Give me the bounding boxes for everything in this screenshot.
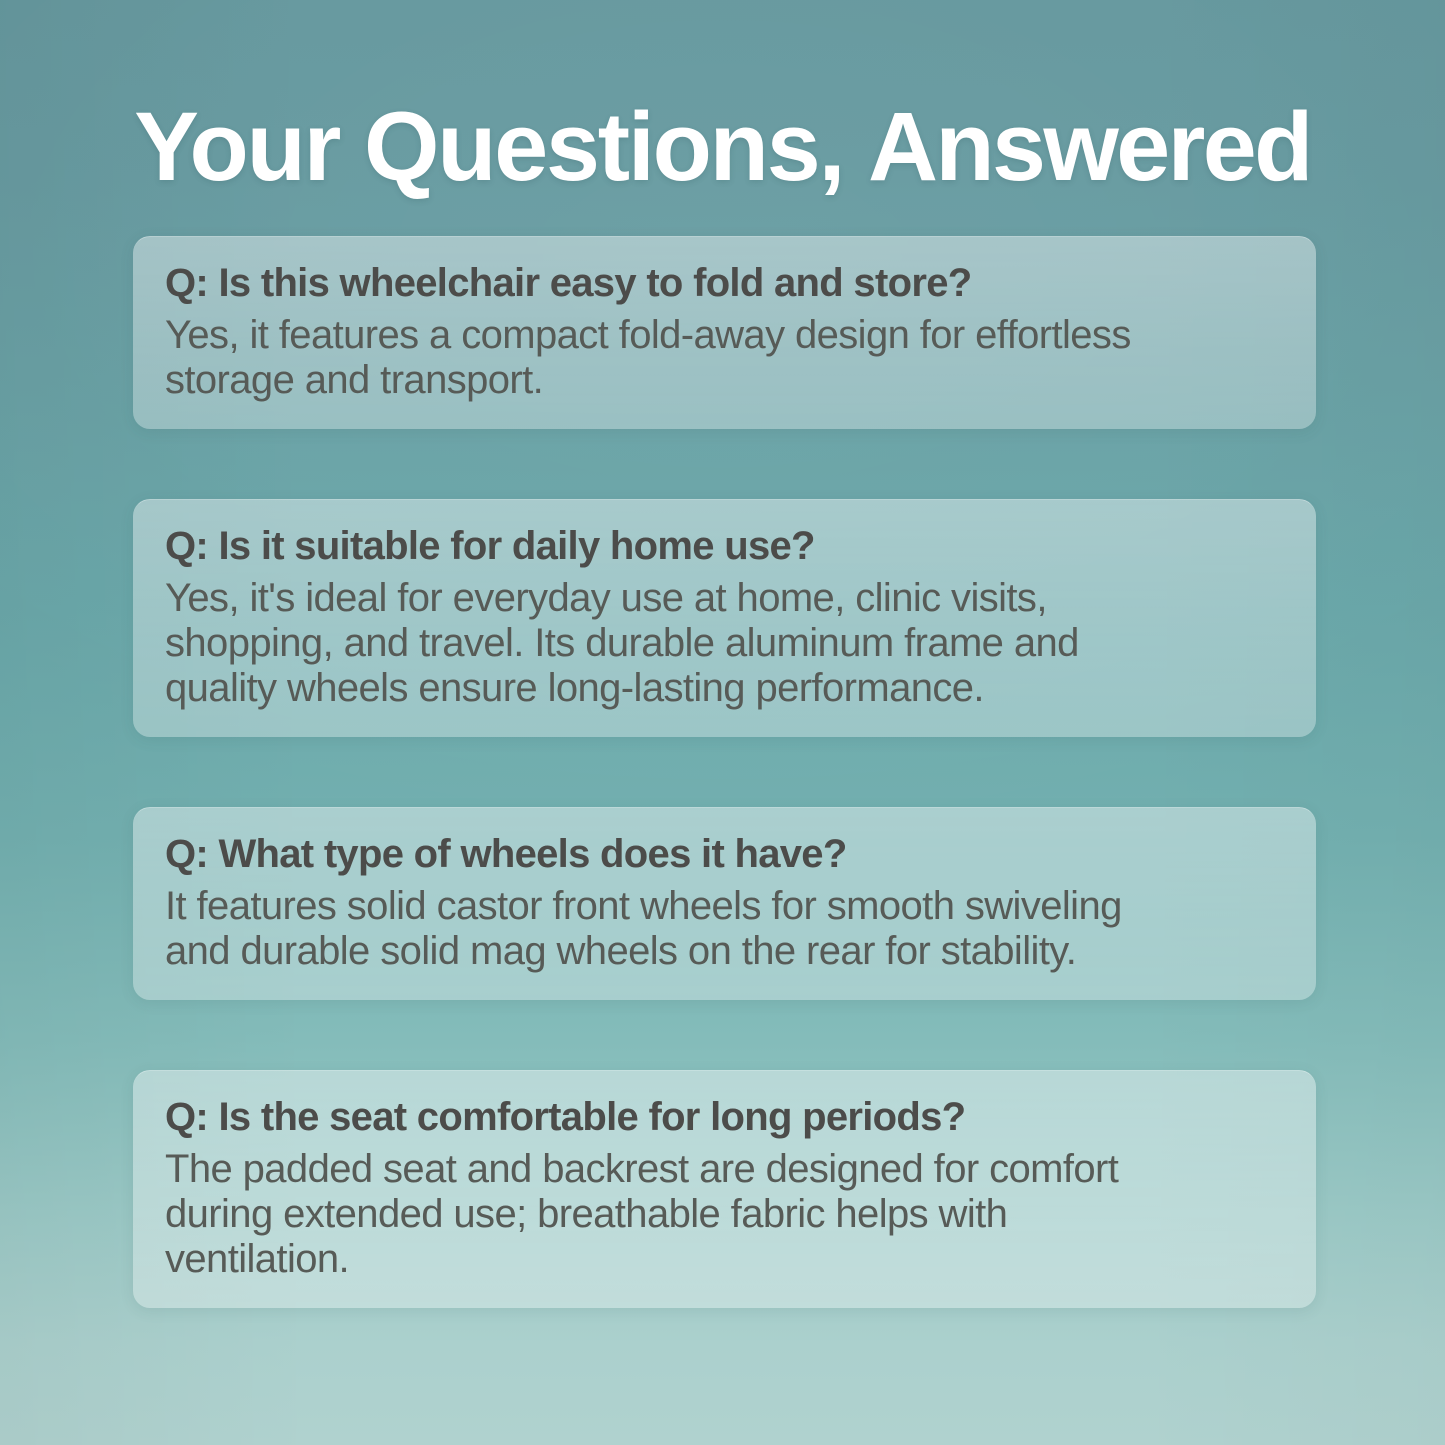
faq-answer: Yes, it features a compact fold-away des…: [165, 313, 1286, 403]
faq-answer: The padded seat and backrest are designe…: [165, 1147, 1286, 1283]
faq-answer-line: quality wheels ensure long-lasting perfo…: [165, 666, 1286, 711]
faq-answer-line: and durable solid mag wheels on the rear…: [165, 929, 1286, 974]
page-title-part-one: Your Questions,: [134, 92, 843, 201]
faq-answer-line: The padded seat and backrest are designe…: [165, 1147, 1286, 1192]
faq-answer: It features solid castor front wheels fo…: [165, 884, 1286, 974]
faq-answer-line: ventilation.: [165, 1237, 1286, 1282]
page-title-heading: Your Questions, Answered: [0, 96, 1445, 199]
page-title-part-two: Answered: [868, 92, 1311, 201]
faq-question: Q: What type of wheels does it have?: [165, 832, 1286, 878]
faq-item[interactable]: Q: What type of wheels does it have? It …: [133, 807, 1316, 1000]
faq-page: Your Questions, Answered Q: Is this whee…: [0, 0, 1445, 1445]
faq-answer-line: It features solid castor front wheels fo…: [165, 884, 1286, 929]
faq-answer-line: shopping, and travel. Its durable alumin…: [165, 621, 1286, 666]
faq-answer-line: during extended use; breathable fabric h…: [165, 1192, 1286, 1237]
faq-question: Q: Is it suitable for daily home use?: [165, 524, 1286, 570]
faq-answer-line: Yes, it's ideal for everyday use at home…: [165, 576, 1286, 621]
faq-question: Q: Is the seat comfortable for long peri…: [165, 1095, 1286, 1141]
faq-item[interactable]: Q: Is it suitable for daily home use? Ye…: [133, 499, 1316, 737]
faq-answer-line: Yes, it features a compact fold-away des…: [165, 313, 1286, 358]
page-title: Your Questions, Answered: [0, 96, 1445, 199]
faq-answer-line: storage and transport.: [165, 358, 1286, 403]
faq-item[interactable]: Q: Is the seat comfortable for long peri…: [133, 1070, 1316, 1308]
faq-list: Q: Is this wheelchair easy to fold and s…: [133, 236, 1316, 1308]
faq-question: Q: Is this wheelchair easy to fold and s…: [165, 261, 1286, 307]
faq-answer: Yes, it's ideal for everyday use at home…: [165, 576, 1286, 712]
faq-item[interactable]: Q: Is this wheelchair easy to fold and s…: [133, 236, 1316, 429]
